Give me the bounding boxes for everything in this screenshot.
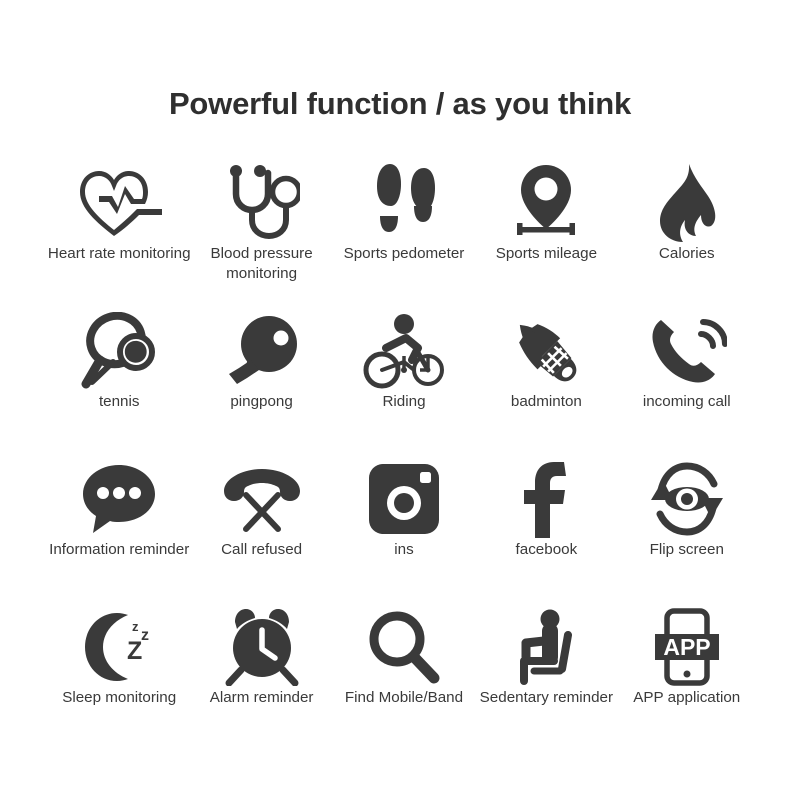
feature-item-sleep-monitoring[interactable]: z z Z Sleep monitoring xyxy=(48,604,190,752)
feature-label: Information reminder xyxy=(43,540,195,560)
feature-label: Sedentary reminder xyxy=(470,688,622,708)
feature-grid-page: Powerful function / as you think Heart r… xyxy=(0,0,800,800)
feature-item-app-application[interactable]: APP APP application xyxy=(616,604,758,752)
feature-item-facebook[interactable]: facebook xyxy=(475,456,617,604)
heart-rate-icon xyxy=(71,160,167,246)
call-refused-icon xyxy=(214,456,310,542)
feature-label: Blood pressure monitoring xyxy=(186,244,338,284)
feature-label: badminton xyxy=(470,392,622,412)
feature-item-sedentary-reminder[interactable]: Sedentary reminder xyxy=(475,604,617,752)
feature-item-riding[interactable]: Riding xyxy=(333,308,475,456)
feature-label: Riding xyxy=(328,392,480,412)
incoming-call-icon xyxy=(639,308,735,394)
app-phone-icon: APP xyxy=(639,604,735,690)
feature-label: Sleep monitoring xyxy=(43,688,195,708)
facebook-f-icon xyxy=(498,456,594,542)
feature-item-instagram[interactable]: ins xyxy=(333,456,475,604)
feature-label: Calories xyxy=(611,244,763,264)
feature-item-pingpong[interactable]: pingpong xyxy=(190,308,332,456)
feature-row: tennis pingpong xyxy=(44,308,756,456)
svg-text:Z: Z xyxy=(127,637,142,665)
seated-person-icon xyxy=(498,604,594,690)
footprints-icon xyxy=(356,160,452,246)
instagram-camera-icon xyxy=(356,456,452,542)
feature-item-information-reminder[interactable]: Information reminder xyxy=(48,456,190,604)
feature-label: pingpong xyxy=(186,392,338,412)
feature-label: Flip screen xyxy=(611,540,763,560)
map-pin-distance-icon xyxy=(498,160,594,246)
feature-label: Sports mileage xyxy=(470,244,622,264)
feature-label: ins xyxy=(328,540,480,560)
feature-item-pedometer[interactable]: Sports pedometer xyxy=(333,160,475,308)
feature-grid: Heart rate monitoring Blood pressure mon… xyxy=(44,160,756,752)
flip-screen-eye-icon xyxy=(639,456,735,542)
feature-item-heart-rate[interactable]: Heart rate monitoring xyxy=(48,160,190,308)
flame-icon xyxy=(639,160,735,246)
feature-label: APP application xyxy=(611,688,763,708)
feature-label: Sports pedometer xyxy=(328,244,480,264)
speech-bubble-icon xyxy=(71,456,167,542)
feature-item-calories[interactable]: Calories xyxy=(616,160,758,308)
feature-label: facebook xyxy=(470,540,622,560)
moon-zzz-icon: z z Z xyxy=(71,604,167,690)
feature-item-call-refused[interactable]: Call refused xyxy=(190,456,332,604)
feature-item-badminton[interactable]: badminton xyxy=(475,308,617,456)
feature-label: incoming call xyxy=(611,392,763,412)
feature-row: Heart rate monitoring Blood pressure mon… xyxy=(44,160,756,308)
stethoscope-icon xyxy=(214,160,310,246)
feature-label: Find Mobile/Band xyxy=(328,688,480,708)
feature-item-mileage[interactable]: Sports mileage xyxy=(475,160,617,308)
feature-label: Alarm reminder xyxy=(186,688,338,708)
pingpong-paddle-icon xyxy=(214,308,310,394)
feature-item-find-device[interactable]: Find Mobile/Band xyxy=(333,604,475,752)
feature-label: tennis xyxy=(43,392,195,412)
feature-row: z z Z Sleep monitoring xyxy=(44,604,756,752)
feature-label: Call refused xyxy=(186,540,338,560)
feature-item-blood-pressure[interactable]: Blood pressure monitoring xyxy=(190,160,332,308)
feature-label: Heart rate monitoring xyxy=(43,244,195,264)
feature-item-alarm-reminder[interactable]: Alarm reminder xyxy=(190,604,332,752)
alarm-clock-icon xyxy=(214,604,310,690)
magnifier-icon xyxy=(356,604,452,690)
feature-row: Information reminder Call refused xyxy=(44,456,756,604)
shuttlecock-icon xyxy=(498,308,594,394)
svg-text:z: z xyxy=(132,619,139,634)
cyclist-icon xyxy=(356,308,452,394)
feature-item-incoming-call[interactable]: incoming call xyxy=(616,308,758,456)
tennis-racket-icon xyxy=(71,308,167,394)
svg-text:APP: APP xyxy=(663,634,710,660)
feature-item-flip-screen[interactable]: Flip screen xyxy=(616,456,758,604)
feature-item-tennis[interactable]: tennis xyxy=(48,308,190,456)
page-title: Powerful function / as you think xyxy=(0,86,800,122)
